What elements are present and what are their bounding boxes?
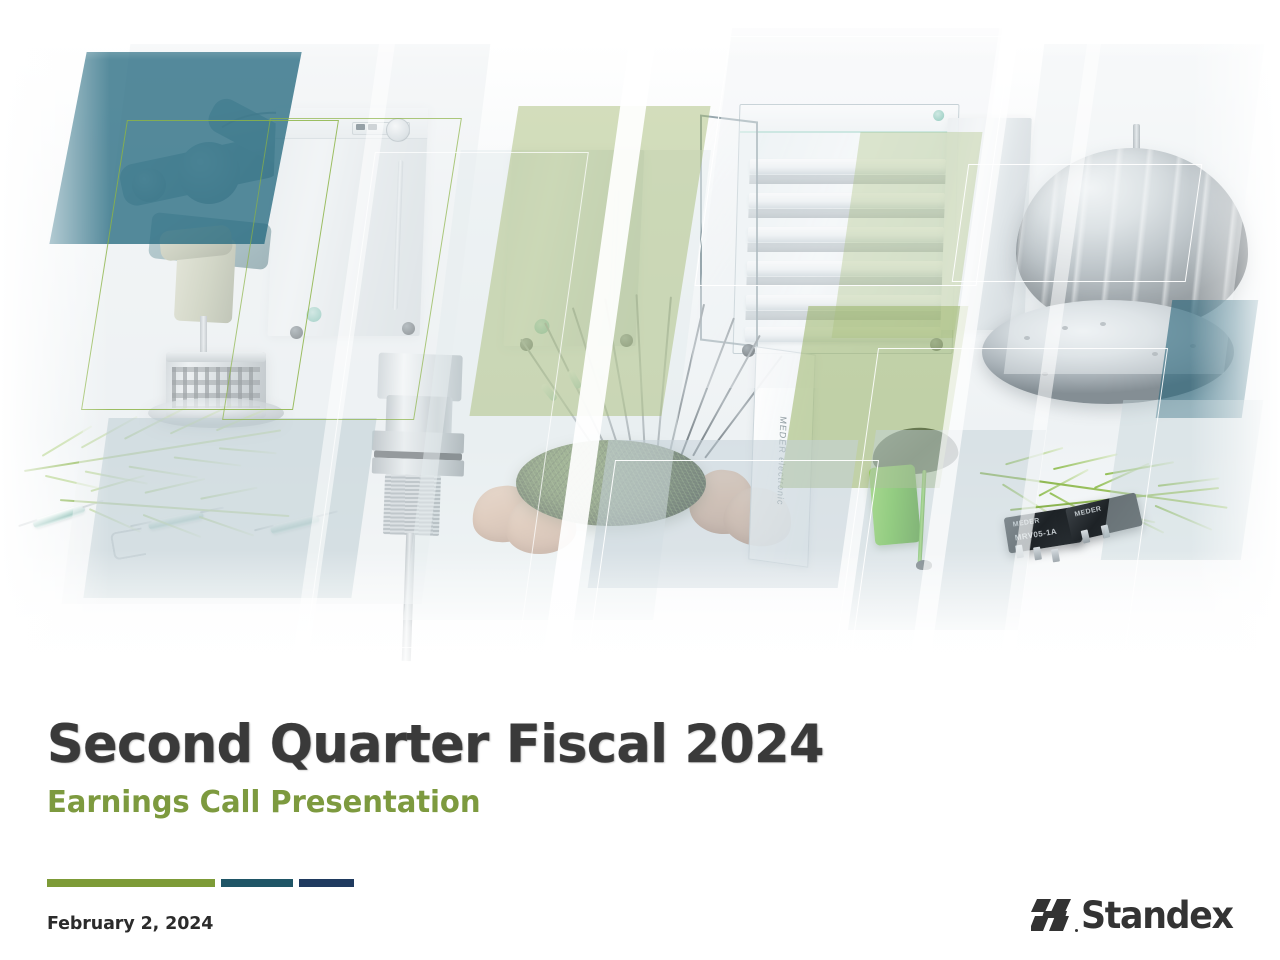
accent-rule-navy <box>299 879 354 887</box>
reed-wire-form <box>110 527 146 560</box>
accent-rule-green <box>47 879 215 887</box>
freezer-caster-2 <box>402 322 415 335</box>
refrigerator-open-door <box>700 114 758 347</box>
photo-lab-freezer-1 <box>268 108 429 336</box>
presentation-slide: MEDER MRV05-1A MEDER MEDER electronic <box>0 0 1280 960</box>
presentation-date: February 2, 2024 <box>47 913 213 934</box>
slide-title: Second Quarter Fiscal 2024 <box>47 718 907 772</box>
standex-logo: Standex <box>1031 896 1242 933</box>
freezer-led <box>356 124 365 130</box>
photo-cabinet-right <box>940 118 1031 330</box>
standex-wordmark: Standex <box>1081 897 1233 934</box>
photo-glassdoor-refrigerator <box>733 104 960 354</box>
accent-rule-group <box>47 879 354 887</box>
slide-subtitle: Earnings Call Presentation <box>47 786 920 819</box>
freezer-led-2 <box>368 124 377 130</box>
accent-rule-teal <box>221 879 293 887</box>
refrigerator-caster-2 <box>930 338 943 351</box>
freezer-caster <box>290 326 303 339</box>
photo-label-tag: MEDER electronic <box>748 346 815 567</box>
freezer-dial <box>386 118 410 142</box>
registered-mark-icon <box>1075 929 1078 932</box>
relay-brand-label: MEDER <box>1012 517 1040 528</box>
hero-collage: MEDER MRV05-1A MEDER MEDER electronic <box>0 0 1280 700</box>
title-block: Second Quarter Fiscal 2024 Earnings Call… <box>47 718 947 819</box>
relay-brand-label-2: MEDER <box>1074 505 1102 518</box>
relay-part-label: MRV05-1A <box>1014 527 1058 543</box>
standex-logo-mark-icon <box>1031 897 1077 933</box>
cabinet2-caster-2 <box>620 334 633 347</box>
